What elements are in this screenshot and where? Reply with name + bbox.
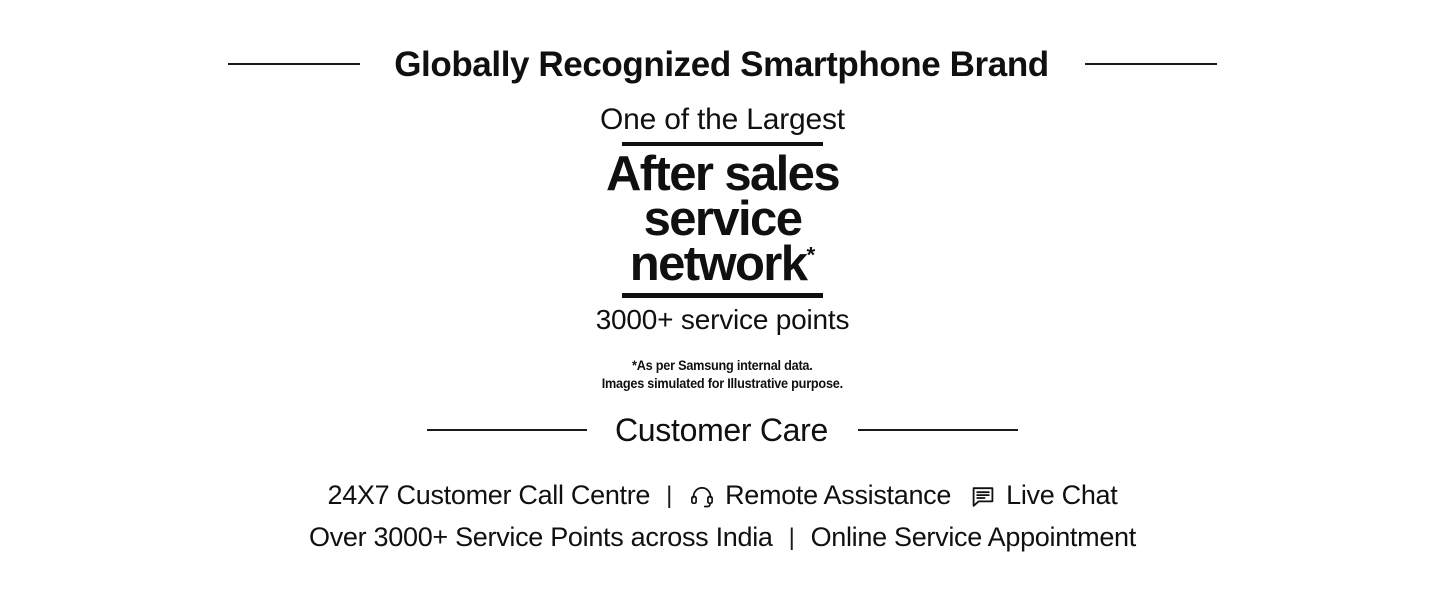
disclaimer-line-2: Images simulated for Illustrative purpos… bbox=[602, 375, 843, 393]
headline-line-network: network* bbox=[606, 242, 839, 287]
heading-rule-right bbox=[1085, 63, 1217, 65]
key-visual-rule-bottom bbox=[622, 293, 823, 298]
feature-row-1: 24X7 Customer Call Centre | Remote Assis… bbox=[328, 475, 1118, 517]
key-visual-rule-top bbox=[622, 142, 823, 146]
key-visual-block: One of the Largest After sales service n… bbox=[0, 103, 1445, 393]
feature-live-chat[interactable]: Live Chat bbox=[969, 475, 1117, 517]
key-visual-headline: After sales service network* bbox=[606, 152, 839, 287]
feature-live-chat-label: Live Chat bbox=[1006, 475, 1117, 517]
care-rule-right bbox=[858, 429, 1018, 431]
key-visual-tagline: One of the Largest bbox=[600, 103, 845, 137]
brand-heading-band: Globally Recognized Smartphone Brand bbox=[0, 36, 1445, 92]
key-visual-service-points: 3000+ service points bbox=[596, 305, 850, 336]
feature-call-centre-label: 24X7 Customer Call Centre bbox=[328, 475, 651, 517]
headline-line-service: service bbox=[606, 197, 839, 242]
feature-online-appointment[interactable]: Online Service Appointment bbox=[811, 517, 1136, 559]
feature-online-appointment-label: Online Service Appointment bbox=[811, 517, 1136, 559]
feature-call-centre[interactable]: 24X7 Customer Call Centre bbox=[328, 475, 651, 517]
samsung-after-sales-service-banner: { "banner": { "background_color": "#ffff… bbox=[0, 0, 1445, 592]
feature-separator: | bbox=[666, 477, 672, 514]
key-visual-disclaimer: *As per Samsung internal data. Images si… bbox=[602, 357, 843, 393]
brand-heading-title: Globally Recognized Smartphone Brand bbox=[394, 47, 1049, 82]
feature-remote-assistance[interactable]: Remote Assistance bbox=[688, 475, 951, 517]
chat-bubble-icon bbox=[969, 483, 997, 511]
feature-row-2: Over 3000+ Service Points across India |… bbox=[309, 517, 1136, 559]
headline-network-text: network bbox=[630, 237, 807, 291]
heading-rule-left bbox=[228, 63, 360, 65]
feature-service-points[interactable]: Over 3000+ Service Points across India bbox=[309, 517, 773, 559]
feature-service-points-label: Over 3000+ Service Points across India bbox=[309, 517, 773, 559]
feature-separator-2: | bbox=[789, 519, 795, 556]
disclaimer-line-1: *As per Samsung internal data. bbox=[602, 357, 843, 375]
headset-icon bbox=[688, 483, 716, 511]
customer-care-title: Customer Care bbox=[615, 414, 828, 446]
customer-care-heading-band: Customer Care bbox=[0, 404, 1445, 456]
feature-remote-assistance-label: Remote Assistance bbox=[725, 475, 951, 517]
footnote-marker: * bbox=[806, 242, 815, 267]
care-rule-left bbox=[427, 429, 587, 431]
customer-care-feature-list: 24X7 Customer Call Centre | Remote Assis… bbox=[0, 475, 1445, 559]
